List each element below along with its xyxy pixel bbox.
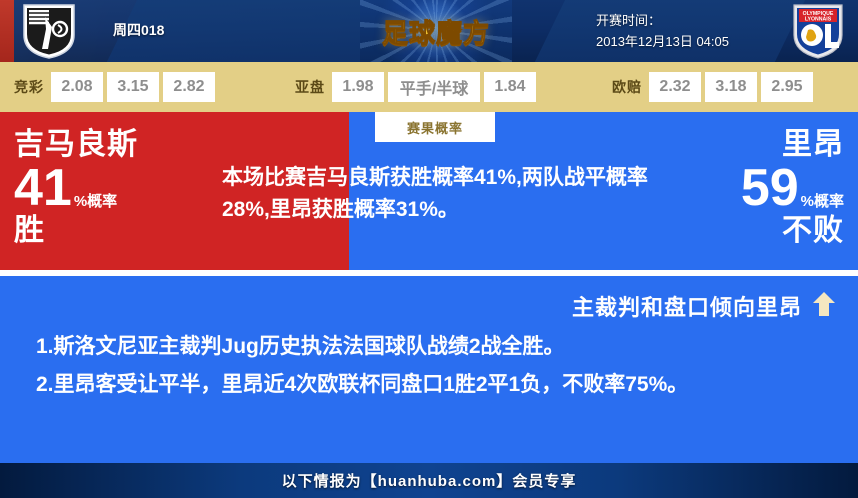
away-team-name: 里昂 xyxy=(741,128,844,162)
away-probability-block: 里昂 59 %概率 不败 xyxy=(741,128,844,248)
odds-label-european: 欧赔 xyxy=(612,77,642,97)
match-round-label: 周四018 xyxy=(113,20,164,40)
home-team-crest-icon xyxy=(22,3,76,59)
home-outcome-label: 胜 xyxy=(14,214,138,248)
odds-label-asian: 亚盘 xyxy=(295,77,325,97)
page-header: 周四018 足球魔方 开赛时间： 2013年12月13日 04:05 OLYMP… xyxy=(0,0,858,62)
probability-tab[interactable]: 赛果概率 xyxy=(375,112,495,142)
away-percent-value: 59 xyxy=(741,162,799,214)
odds-cell-asian-away[interactable]: 1.84 xyxy=(484,72,536,102)
odds-cell-asian-home[interactable]: 1.98 xyxy=(332,72,384,102)
home-percent-value: 41 xyxy=(14,162,72,214)
analysis-line-1: 1.斯洛文尼亚主裁判Jug历史执法法国球队战绩2战全胜。 xyxy=(36,328,822,366)
analysis-body: 1.斯洛文尼亚主裁判Jug历史执法法国球队战绩2战全胜。 2.里昂客受让平半，里… xyxy=(36,328,822,404)
kickoff-label: 开赛时间： xyxy=(596,10,729,31)
home-percent-row: 41 %概率 xyxy=(14,162,138,214)
odds-bar: 竞彩 2.08 3.15 2.82 亚盘 1.98 平手/半球 1.84 欧赔 … xyxy=(0,62,858,112)
away-percent-row: 59 %概率 xyxy=(741,162,844,214)
analysis-line-2: 2.里昂客受让平半，里昂近4次欧联杯同盘口1胜2平1负，不败率75%。 xyxy=(36,366,822,404)
probability-summary-text: 本场比赛吉马良斯获胜概率41%,两队战平概率28%,里昂获胜概率31%。 xyxy=(222,162,652,226)
away-team-crest-icon: OLYMPIQUE LYONNAIS xyxy=(788,2,848,60)
odds-cell-jingcai-home[interactable]: 2.08 xyxy=(51,72,103,102)
svg-text:LYONNAIS: LYONNAIS xyxy=(805,17,832,23)
odds-cell-european-draw[interactable]: 3.18 xyxy=(705,72,757,102)
odds-group-jingcai: 竞彩 2.08 3.15 2.82 xyxy=(14,72,219,102)
probability-tab-label: 赛果概率 xyxy=(407,118,463,137)
odds-label-jingcai: 竞彩 xyxy=(14,77,44,97)
analysis-heading: 主裁判和盘口倾向里昂 xyxy=(572,290,836,322)
brand-logo-text: 足球魔方 xyxy=(382,13,490,50)
odds-cell-asian-handicap[interactable]: 平手/半球 xyxy=(388,72,480,102)
arrow-up-icon xyxy=(812,291,836,322)
kickoff-value: 2013年12月13日 04:05 xyxy=(596,31,729,52)
home-team-name: 吉马良斯 xyxy=(14,128,138,162)
home-probability-block: 吉马良斯 41 %概率 胜 xyxy=(14,128,138,248)
away-outcome-label: 不败 xyxy=(741,214,844,248)
home-percent-suffix: %概率 xyxy=(74,194,117,214)
odds-cell-european-home[interactable]: 2.32 xyxy=(649,72,701,102)
analysis-heading-text: 主裁判和盘口倾向里昂 xyxy=(572,290,802,322)
probability-band: 赛果概率 吉马良斯 41 %概率 胜 里昂 59 %概率 不败 本场比赛吉马良斯… xyxy=(0,112,858,270)
footer-text: 以下情报为【huanhuba.com】会员专享 xyxy=(282,470,577,491)
kickoff-time: 开赛时间： 2013年12月13日 04:05 xyxy=(596,10,729,52)
page-footer: 以下情报为【huanhuba.com】会员专享 xyxy=(0,462,858,498)
odds-cell-european-away[interactable]: 2.95 xyxy=(761,72,813,102)
away-percent-suffix: %概率 xyxy=(801,194,844,214)
odds-cell-jingcai-away[interactable]: 2.82 xyxy=(163,72,215,102)
odds-group-asian: 亚盘 1.98 平手/半球 1.84 xyxy=(295,72,540,102)
odds-group-european: 欧赔 2.32 3.18 2.95 xyxy=(612,72,817,102)
brand-logo: 足球魔方 xyxy=(360,0,512,62)
odds-cell-jingcai-draw[interactable]: 3.15 xyxy=(107,72,159,102)
analysis-section: 主裁判和盘口倾向里昂 1.斯洛文尼亚主裁判Jug历史执法法国球队战绩2战全胜。 … xyxy=(0,270,858,462)
